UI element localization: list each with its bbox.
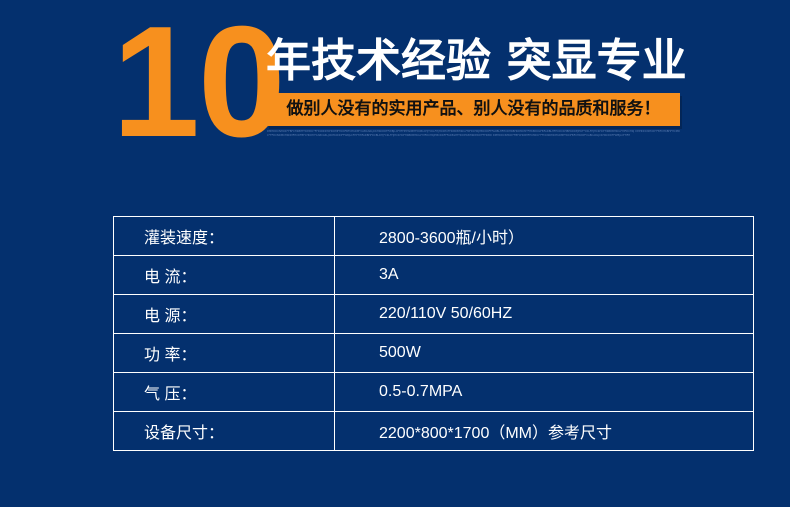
spec-label-cell: 电 流： [114,256,335,295]
spec-label: 设备尺寸： [144,419,224,443]
spec-value-cell: 2200*800*1700（MM）参考尺寸 [335,412,754,451]
headline-text: 年技术经验 突显专业 [266,34,686,88]
slogan-banner: 做别人没有的实用产品、别人没有的品质和服务！ [267,93,680,126]
spec-value-cell: 0.5-0.7MPA [335,373,754,412]
header-banner: 10 年技术经验 突显专业 做别人没有的实用产品、别人没有的品质和服务！ DMH… [0,0,790,175]
table-row: 设备尺寸： 2200*800*1700（MM）参考尺寸 [114,412,754,451]
slogan-text: 做别人没有的实用产品、别人没有的品质和服务！ [267,93,680,126]
spec-label-cell: 气 压： [114,373,335,412]
spec-label-cell: 灌装速度： [114,217,335,256]
spec-value: 220/110V 50/60HZ [379,305,512,323]
spec-label-cell: 设备尺寸： [114,412,335,451]
table-row: 灌装速度： 2800-3600瓶/小时） [114,217,754,256]
spec-label: 电 源： [144,302,196,326]
spec-label: 电 流： [144,263,196,287]
spec-value-cell: 2800-3600瓶/小时） [335,217,754,256]
table-row: 电 源： 220/110V 50/60HZ [114,295,754,334]
table-row: 电 流： 3A [114,256,754,295]
table-row: 功 率： 500W [114,334,754,373]
spec-label: 功 率： [144,341,196,365]
table-row: 气 压： 0.5-0.7MPA [114,373,754,412]
spec-value: 3A [379,266,399,284]
specification-table: 灌装速度： 2800-3600瓶/小时） 电 流： 3A 电 源： [113,216,754,451]
spec-label: 气 压： [144,380,196,404]
spec-value: 2800-3600瓶/小时） [379,224,524,248]
spec-value-cell: 3A [335,256,754,295]
years-number: 10 [112,2,267,162]
spec-value-cell: 220/110V 50/60HZ [335,295,754,334]
spec-label-cell: 功 率： [114,334,335,373]
fineprint-text: DMHDDCNHOD*FBFCHKBHFHCMDC*FFDCNDMCHKDMFH… [267,130,680,156]
spec-table-body: 灌装速度： 2800-3600瓶/小时） 电 流： 3A 电 源： [114,217,754,451]
spec-value: 0.5-0.7MPA [379,383,462,401]
spec-value-cell: 500W [335,334,754,373]
product-spec-banner: 10 年技术经验 突显专业 做别人没有的实用产品、别人没有的品质和服务！ DMH… [0,0,790,507]
spec-value: 2200*800*1700（MM）参考尺寸 [379,419,612,443]
spec-label: 灌装速度： [144,224,224,248]
spec-label-cell: 电 源： [114,295,335,334]
spec-value: 500W [379,344,421,362]
